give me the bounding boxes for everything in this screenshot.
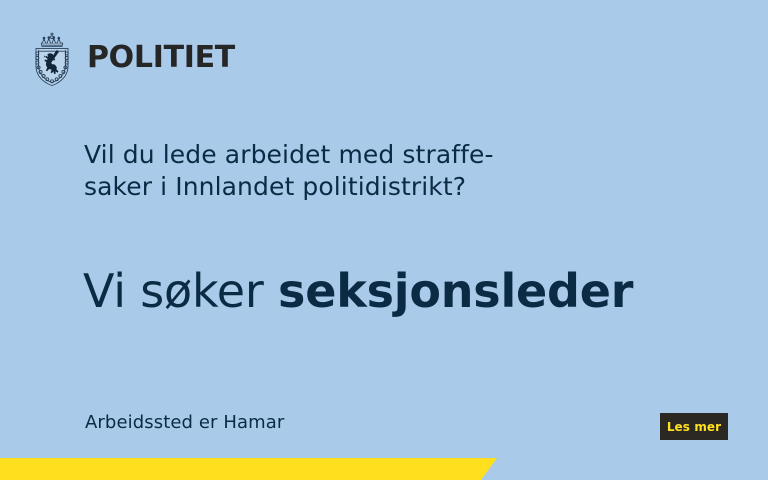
kicker-line-2: saker i Innlandet politidistrikt? — [84, 171, 644, 203]
read-more-button[interactable]: Les mer — [660, 413, 728, 440]
kicker-text: Vil du lede arbeidet med straffe- saker … — [84, 139, 644, 203]
politiet-wordmark: POLITIET — [87, 43, 235, 76]
norwegian-coat-of-arms-icon — [28, 31, 76, 87]
headline: Vi søker seksjonsleder — [83, 264, 633, 318]
politiet-logo[interactable]: POLITIET — [28, 31, 235, 87]
headline-lead: Vi søker — [83, 264, 278, 318]
yellow-accent-bar — [0, 458, 500, 480]
headline-role: seksjonsleder — [278, 264, 633, 318]
read-more-label: Les mer — [667, 421, 721, 433]
location-text: Arbeidssted er Hamar — [85, 412, 284, 433]
kicker-line-1: Vil du lede arbeidet med straffe- — [84, 139, 644, 171]
recruitment-ad-banner: POLITIET Vil du lede arbeidet med straff… — [0, 0, 768, 480]
